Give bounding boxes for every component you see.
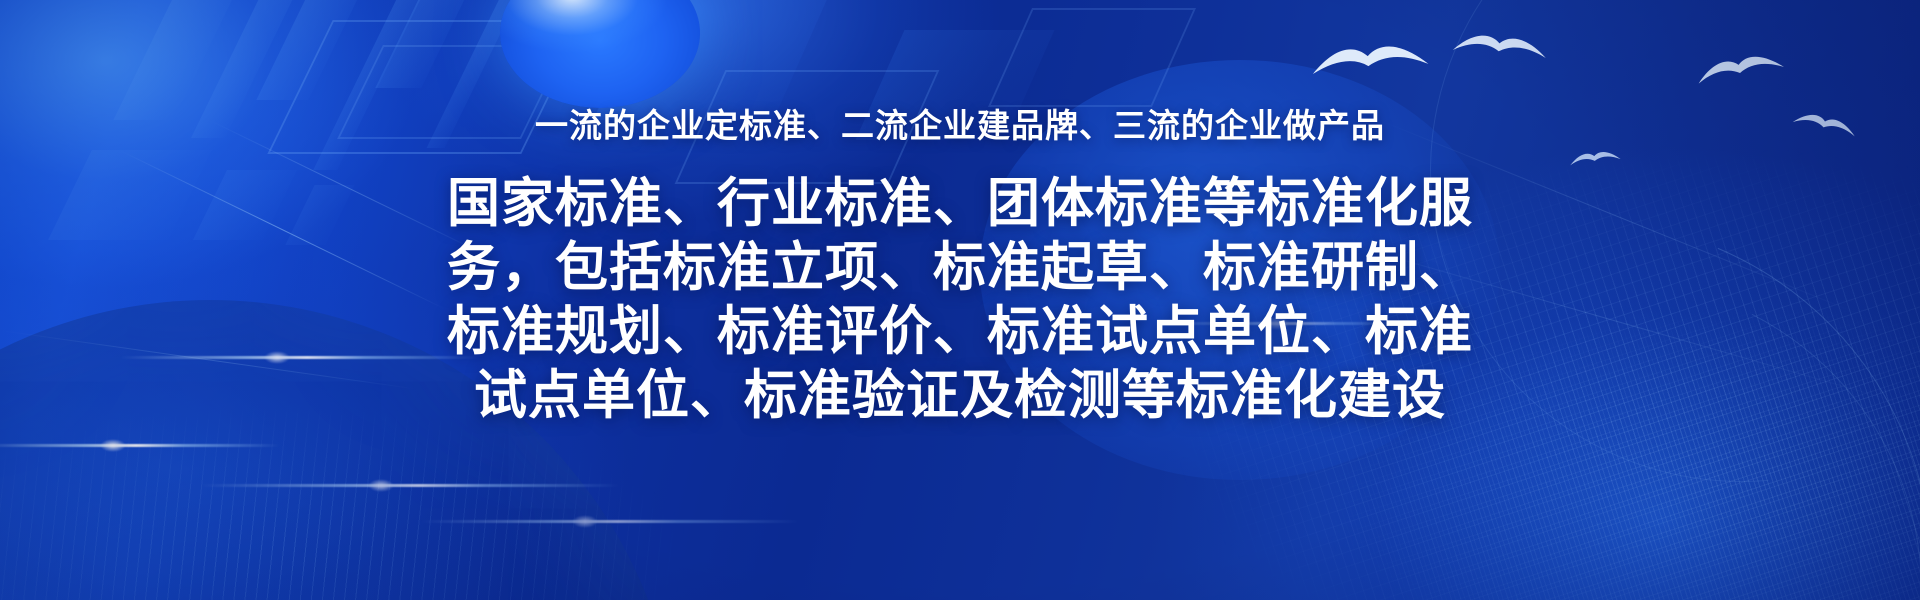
banner-text-block: 一流的企业定标准、二流企业建品牌、三流的企业做产品 国家标准、行业标准、团体标准…	[0, 104, 1920, 428]
tech-grid-bottom-left	[0, 400, 700, 600]
light-streak	[0, 444, 280, 447]
banner-headline: 一流的企业定标准、二流企业建品牌、三流的企业做产品	[0, 104, 1920, 148]
paragraph-line-3: 标准规划、标准评价、标准试点单位、标准	[0, 300, 1920, 364]
banner-paragraph: 国家标准、行业标准、团体标准等标准化服 务，包括标准立项、标准起草、标准研制、 …	[0, 172, 1920, 428]
paragraph-line-4: 试点单位、标准验证及检测等标准化建设	[0, 364, 1920, 428]
light-streak	[200, 484, 620, 487]
paragraph-line-2: 务，包括标准立项、标准起草、标准研制、	[0, 236, 1920, 300]
light-streak	[420, 520, 800, 523]
paragraph-line-1: 国家标准、行业标准、团体标准等标准化服	[0, 172, 1920, 236]
seagull-icon	[1309, 36, 1431, 84]
promo-banner: 一流的企业定标准、二流企业建品牌、三流的企业做产品 国家标准、行业标准、团体标准…	[0, 0, 1920, 600]
